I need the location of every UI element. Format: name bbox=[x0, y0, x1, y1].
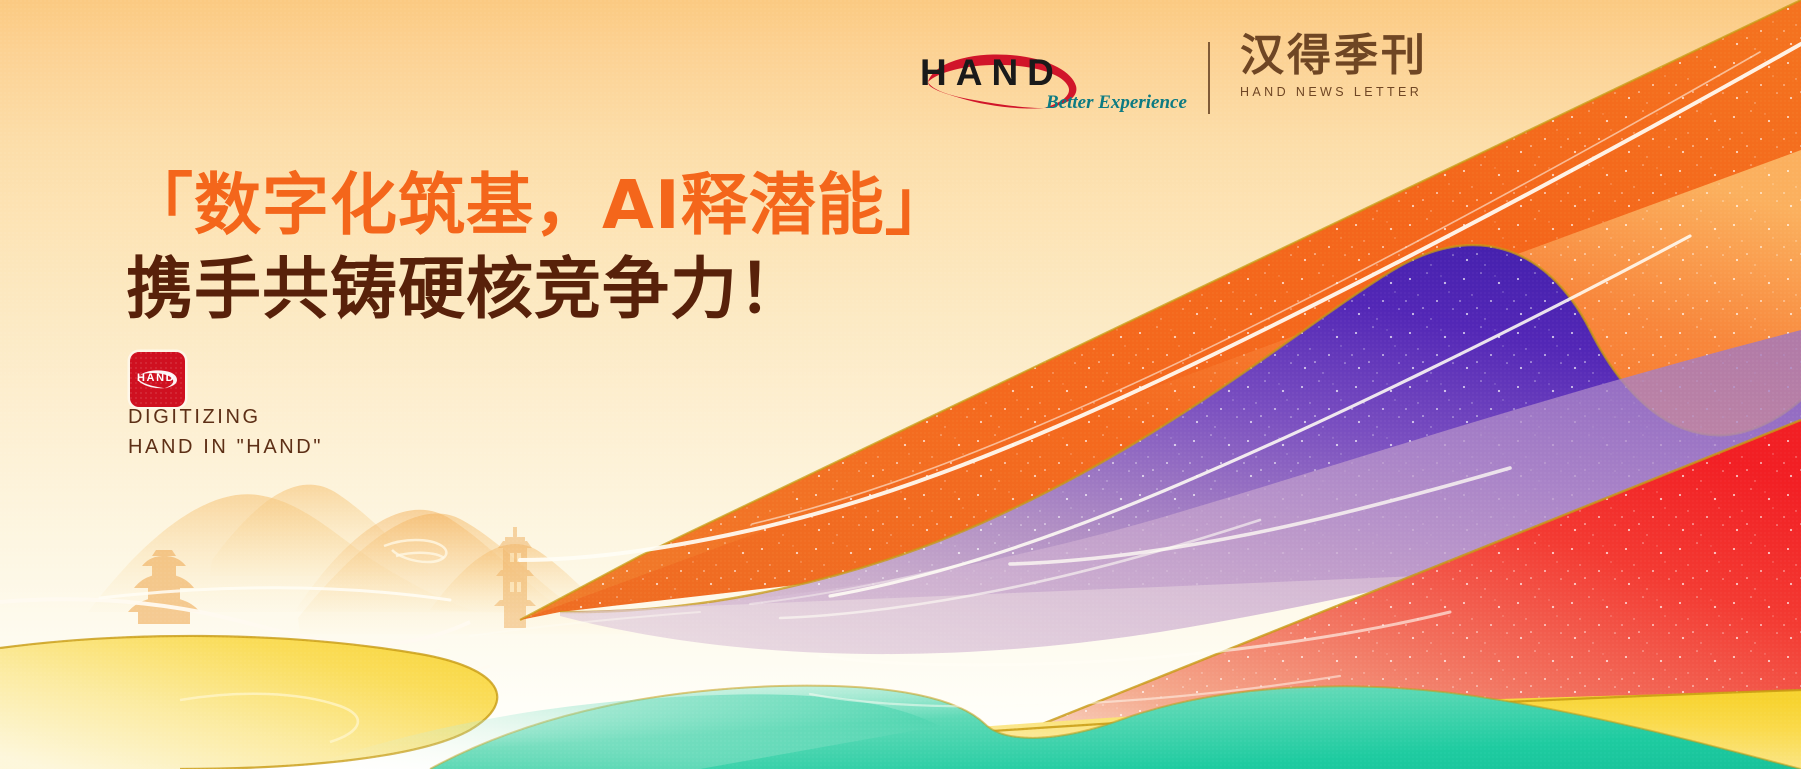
hand-badge-logo: HAND bbox=[130, 352, 185, 407]
hand-wordmark: HAND bbox=[920, 54, 1063, 91]
slogan-line-2: HAND IN "HAND" bbox=[128, 433, 323, 463]
hand-tagline: Better Experience bbox=[1046, 92, 1187, 114]
newsletter-banner: HAND Better Experience 汉得季刊 HAND NEWS LE… bbox=[0, 0, 1801, 769]
badge-wordmark: HAND bbox=[137, 372, 175, 384]
slogan-line-1: DIGITIZING bbox=[128, 403, 323, 433]
quarterly-subtitle-en: HAND NEWS LETTER bbox=[1240, 85, 1450, 99]
quarterly-title-cn: 汉得季刊 bbox=[1240, 34, 1450, 78]
logo-divider bbox=[1208, 42, 1210, 114]
quarterly-logo: 汉得季刊 HAND NEWS LETTER bbox=[1240, 34, 1450, 126]
headline-line-1: 「数字化筑基，AI释潜能」 bbox=[126, 163, 953, 247]
abstract-ribbon-artwork bbox=[0, 0, 1801, 769]
headline-line-2: 携手共铸硬核竞争力！ bbox=[126, 247, 953, 331]
headline: 「数字化筑基，AI释潜能」 携手共铸硬核竞争力！ bbox=[126, 163, 953, 332]
slogan: DIGITIZING HAND IN "HAND" bbox=[128, 403, 323, 462]
hand-logo: HAND Better Experience bbox=[920, 46, 1190, 126]
